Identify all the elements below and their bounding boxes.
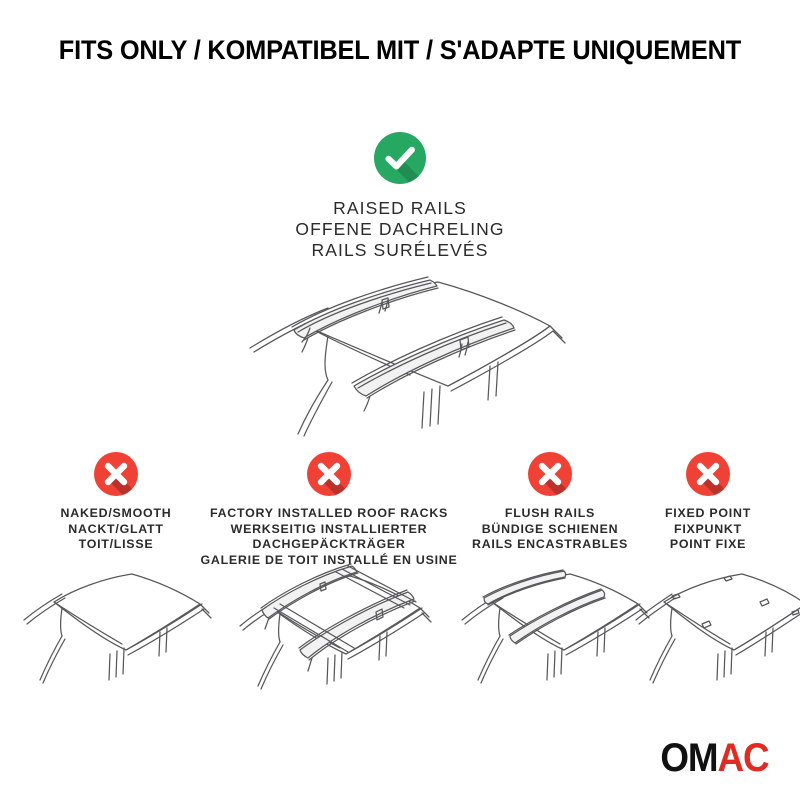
compatible-label-line-1: RAISED RAILS (295, 198, 504, 219)
label-line: POINT FIXE (665, 537, 751, 553)
compatible-section: RAISED RAILS OFFENE DACHRELING RAILS SUR… (0, 132, 800, 261)
naked-smooth-illustration (14, 556, 214, 696)
incompatible-item-fixed-point: FIXED POINT FIXPUNKT POINT FIXE (638, 452, 778, 553)
compatible-label: RAISED RAILS OFFENE DACHRELING RAILS SUR… (295, 198, 504, 261)
factory-roof-rack-illustration (228, 546, 440, 696)
label-line: NAKED/SMOOTH (61, 506, 172, 522)
incompatible-illustration-row (0, 556, 800, 696)
compatible-label-line-3: RAILS SURÉLEVÉS (295, 240, 504, 261)
raised-rails-illustration (232, 276, 576, 456)
compatible-label-line-2: OFFENE DACHRELING (295, 219, 504, 240)
incompatible-item-flush-rails: FLUSH RAILS BÜNDIGE SCHIENEN RAILS ENCAS… (455, 452, 645, 553)
label-line: FIXPUNKT (665, 522, 751, 538)
incompatible-item-naked-smooth: NAKED/SMOOTH NACKT/GLATT TOIT/LISSE (26, 452, 206, 553)
x-circle-icon (94, 452, 138, 496)
x-circle-icon (686, 452, 730, 496)
label-line: NACKT/GLATT (61, 522, 172, 538)
omac-logo: OMAC (660, 738, 768, 778)
label-line: FACTORY INSTALLED ROOF RACKS (201, 506, 458, 522)
label-line: BÜNDIGE SCHIENEN (472, 522, 628, 538)
x-circle-icon (307, 452, 351, 496)
incompatible-label: NAKED/SMOOTH NACKT/GLATT TOIT/LISSE (61, 506, 172, 553)
label-line: RAILS ENCASTRABLES (472, 537, 628, 553)
page-title: FITS ONLY / KOMPATIBEL MIT / S'ADAPTE UN… (59, 35, 741, 66)
incompatible-label: FIXED POINT FIXPUNKT POINT FIXE (665, 506, 751, 553)
header-banner: FITS ONLY / KOMPATIBEL MIT / S'ADAPTE UN… (0, 0, 800, 100)
label-line: FIXED POINT (665, 506, 751, 522)
label-line: TOIT/LISSE (61, 537, 172, 553)
logo-text-dark: OM (660, 738, 717, 778)
x-circle-icon (528, 452, 572, 496)
logo-text-red: AC (717, 738, 768, 778)
label-line: FLUSH RAILS (472, 506, 628, 522)
flush-rails-illustration (452, 554, 652, 696)
incompatible-label: FLUSH RAILS BÜNDIGE SCHIENEN RAILS ENCAS… (472, 506, 628, 553)
fixed-point-illustration (628, 554, 800, 696)
label-line: WERKSEITIG INSTALLIERTER (201, 522, 458, 538)
check-circle-icon (374, 132, 426, 184)
